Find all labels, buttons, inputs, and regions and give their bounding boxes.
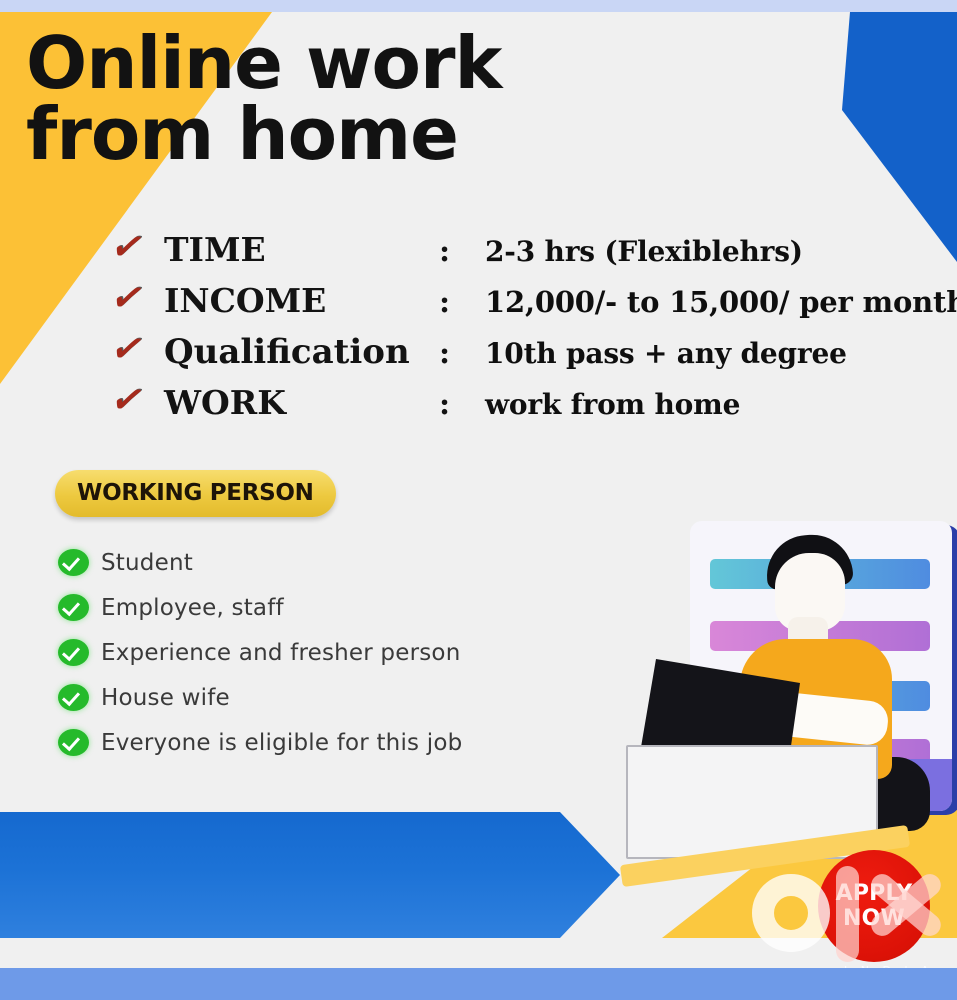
detail-row-income: ✓ INCOME : 12,000/- to 15,000/ per month	[112, 281, 952, 332]
detail-label: INCOME	[164, 281, 439, 320]
detail-row-work: ✓ WORK : work from home	[112, 383, 952, 434]
page-title: Online work from home	[26, 28, 646, 169]
working-person-badge: WORKING PERSON	[55, 470, 336, 517]
list-item: Everyone is eligible for this job	[58, 720, 618, 765]
check-icon: ✓	[108, 227, 169, 271]
detail-value: 12,000/- to 15,000/ per month	[485, 285, 957, 319]
apply-now-button[interactable]: APPLY NOW	[818, 850, 930, 962]
detail-row-time: ✓ TIME : 2-3 hrs (Flexiblehrs)	[112, 230, 952, 281]
check-icon: ✓	[108, 329, 169, 373]
list-item-label: Employee, staff	[101, 595, 284, 621]
detail-label: TIME	[164, 230, 439, 269]
detail-value: 2-3 hrs (Flexiblehrs)	[485, 235, 952, 268]
detail-label: Qualification	[164, 332, 439, 372]
list-item-label: Experience and fresher person	[101, 640, 460, 666]
green-check-icon	[58, 639, 89, 666]
detail-row-qualification: ✓ Qualification : 10th pass + any degree	[112, 332, 952, 383]
detail-value: work from home	[485, 388, 952, 421]
poster-card: Online work from home ✓ TIME : 2-3 hrs (…	[0, 12, 957, 968]
list-item: Experience and fresher person	[58, 630, 618, 675]
poster-canvas: Online work from home ✓ TIME : 2-3 hrs (…	[0, 0, 957, 1000]
detail-colon: :	[439, 234, 485, 269]
bottom-accent-strip	[0, 968, 957, 1000]
list-item: House wife	[58, 675, 618, 720]
list-item: Student	[58, 540, 618, 585]
green-check-icon	[58, 729, 89, 756]
blue-chevron-shape	[817, 12, 957, 262]
details-table: ✓ TIME : 2-3 hrs (Flexiblehrs) ✓ INCOME …	[112, 230, 952, 434]
apply-now-line2: NOW	[843, 907, 905, 931]
detail-value: 10th pass + any degree	[485, 337, 952, 370]
detail-label: WORK	[164, 383, 439, 422]
apply-now-line1: APPLY	[836, 882, 913, 906]
detail-colon: :	[439, 387, 485, 422]
list-item-label: House wife	[101, 685, 230, 711]
green-check-icon	[58, 684, 89, 711]
list-item-label: Student	[101, 550, 193, 576]
list-item-label: Everyone is eligible for this job	[101, 730, 462, 756]
green-check-icon	[58, 594, 89, 621]
bottom-blue-band	[0, 812, 620, 938]
eligibility-list: Student Employee, staff Experience and f…	[58, 540, 618, 765]
work-from-home-illustration	[612, 517, 957, 867]
check-icon: ✓	[108, 278, 169, 322]
green-check-icon	[58, 549, 89, 576]
check-icon: ✓	[108, 380, 169, 424]
detail-colon: :	[439, 285, 485, 320]
detail-colon: :	[439, 336, 485, 371]
list-item: Employee, staff	[58, 585, 618, 630]
